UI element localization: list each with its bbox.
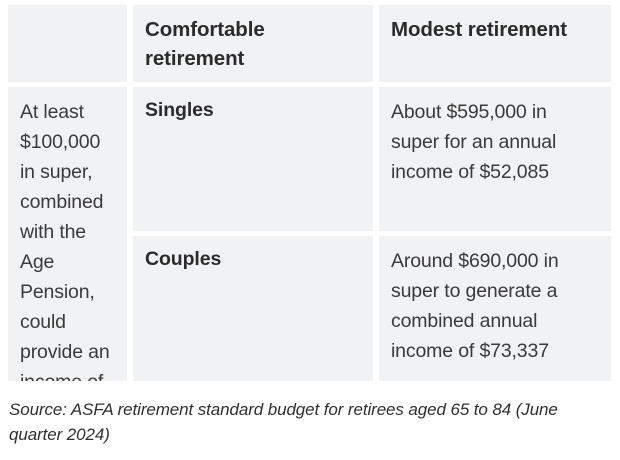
cell-text: At least $100,000 in super, combined wit… (20, 97, 115, 381)
source-note: Source: ASFA retirement standard budget … (8, 397, 609, 447)
column-header-comfortable-retirement: Comfortable retirement (133, 5, 373, 82)
cell-text: Around $690,000 in super to generate a c… (391, 246, 599, 366)
cell-modest-merged: At least $100,000 in super, combined wit… (8, 87, 127, 381)
retirement-comparison-table: Comfortable retirement Modest retirement… (8, 5, 609, 381)
row-header-label: Couples (145, 246, 361, 272)
column-header-modest-retirement: Modest retirement (379, 5, 611, 82)
row-header-singles: Singles (133, 87, 373, 231)
cell-couples-comfortable: Around $690,000 in super to generate a c… (379, 236, 611, 381)
table-corner-cell (8, 5, 127, 82)
column-header-label: Modest retirement (391, 15, 599, 44)
cell-singles-comfortable: About $595,000 in super for an annual in… (379, 87, 611, 231)
row-header-label: Singles (145, 97, 361, 123)
retirement-comparison-figure: Comfortable retirement Modest retirement… (0, 0, 620, 460)
column-header-label: Comfortable retirement (145, 15, 361, 73)
cell-text: About $595,000 in super for an annual in… (391, 97, 599, 187)
row-header-couples: Couples (133, 236, 373, 381)
